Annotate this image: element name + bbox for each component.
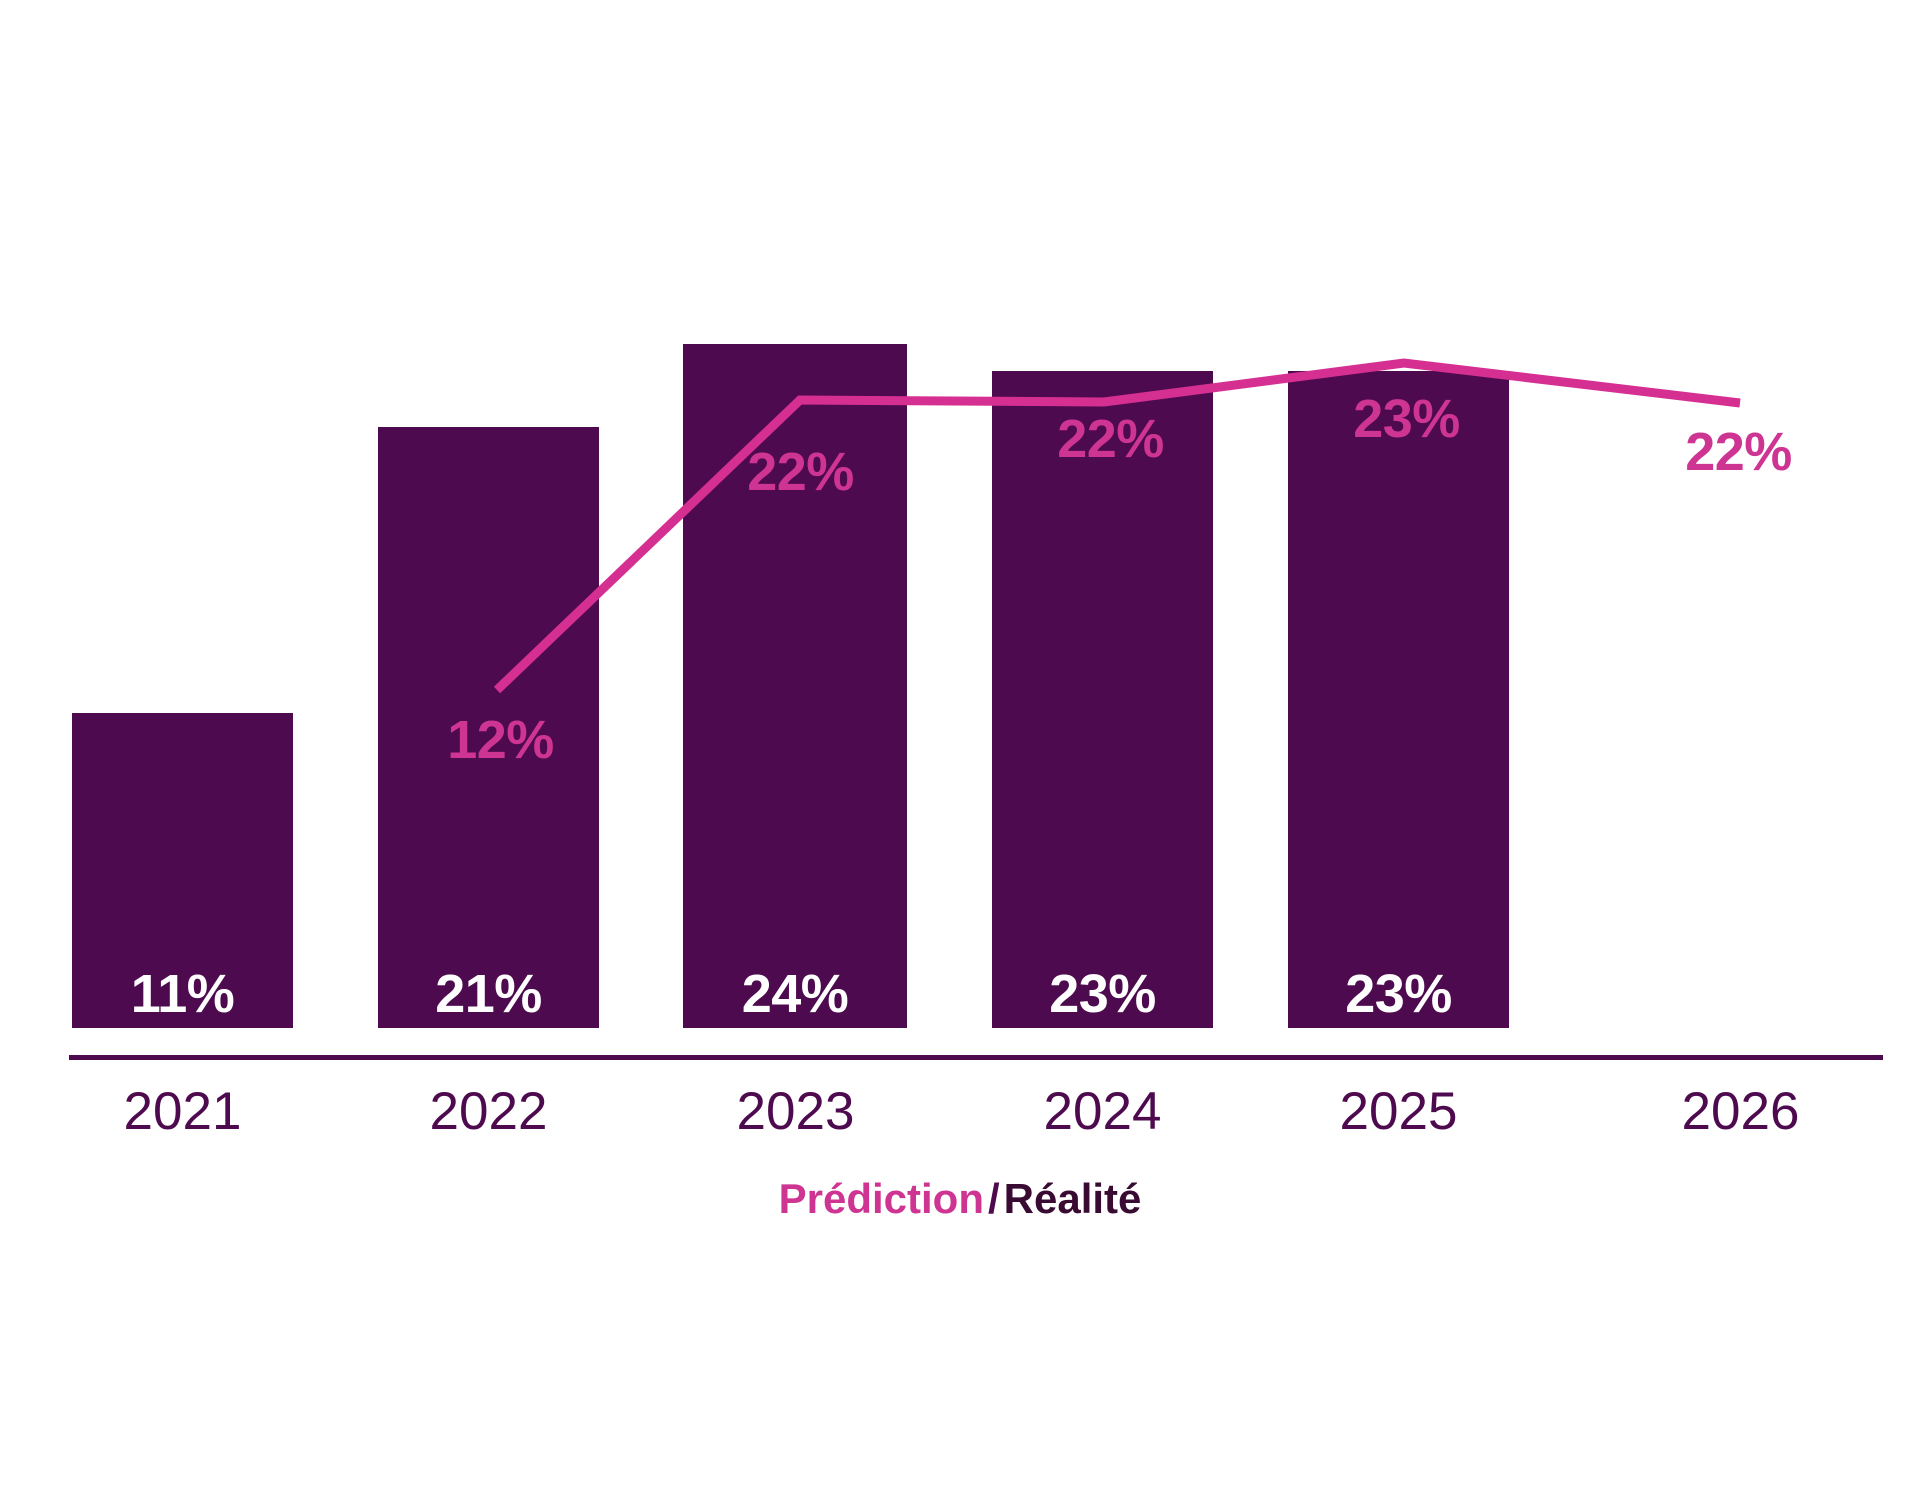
- x-axis-label-2022: 2022: [368, 1085, 609, 1138]
- bar-value-2022: 21%: [378, 967, 599, 1021]
- prediction-value-2025: 23%: [1296, 392, 1517, 446]
- x-axis-label-2024: 2024: [982, 1085, 1223, 1138]
- x-axis-label-2026: 2026: [1620, 1085, 1861, 1138]
- prediction-value-2024: 22%: [1000, 412, 1221, 466]
- bar-2025[interactable]: [1288, 371, 1509, 1028]
- chart-plot-area: 11% 21% 24% 23% 23% 12% 22% 22% 23% 22% …: [0, 0, 1920, 1500]
- chart-legend: Prédiction/Réalité: [0, 1178, 1920, 1220]
- legend-separator: /: [984, 1175, 1004, 1222]
- x-axis-label-2021: 2021: [62, 1085, 303, 1138]
- prediction-value-2026: 22%: [1628, 425, 1849, 479]
- chart-canvas: [0, 0, 1920, 1500]
- legend-item-prediction[interactable]: Prédiction: [779, 1175, 984, 1222]
- prediction-value-2023: 22%: [690, 445, 911, 499]
- bar-value-2025: 23%: [1288, 967, 1509, 1021]
- legend-item-realite[interactable]: Réalité: [1004, 1175, 1142, 1222]
- chart-root: 11% 21% 24% 23% 23% 12% 22% 22% 23% 22% …: [0, 0, 1920, 1500]
- x-axis-label-2023: 2023: [675, 1085, 916, 1138]
- bar-value-2023: 24%: [683, 967, 907, 1021]
- bar-value-2021: 11%: [72, 967, 293, 1021]
- x-axis-line: [69, 1055, 1883, 1060]
- prediction-value-2022: 12%: [390, 713, 611, 767]
- x-axis-label-2025: 2025: [1278, 1085, 1519, 1138]
- bar-value-2024: 23%: [992, 967, 1213, 1021]
- bar-2024[interactable]: [992, 371, 1213, 1028]
